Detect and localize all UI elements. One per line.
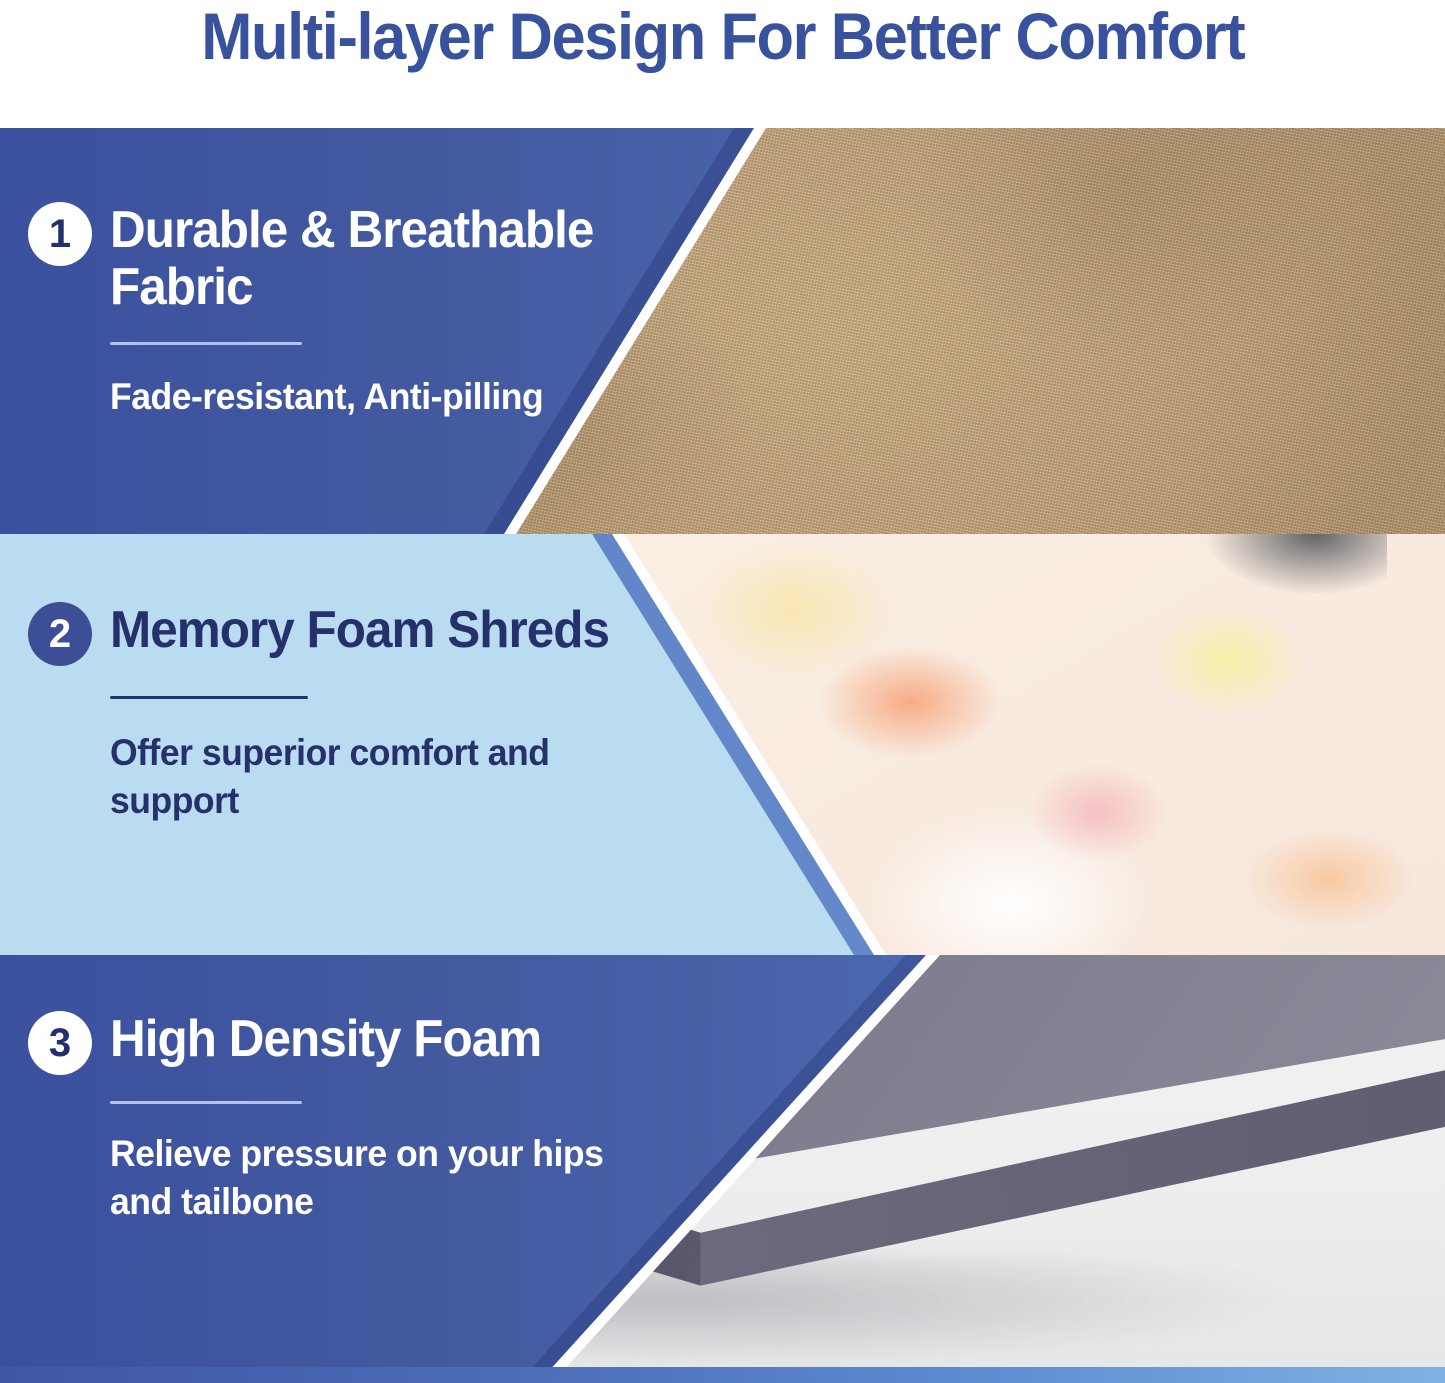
feature-panel-1: 1 Durable & Breathable Fabric Fade-resis… bbox=[0, 128, 1445, 534]
panel-2-divider bbox=[110, 696, 308, 699]
panel-3-heading-row: 3 High Density Foam bbox=[28, 1011, 640, 1075]
bottom-accent-strip bbox=[0, 1367, 1445, 1383]
panel-2-heading: Memory Foam Shreds bbox=[110, 602, 609, 659]
step-number-badge-1: 1 bbox=[28, 202, 92, 266]
panel-1-subtitle: Fade-resistant, Anti-pilling bbox=[110, 373, 619, 421]
step-number-badge-2: 2 bbox=[28, 602, 92, 666]
panel-2-content: 2 Memory Foam Shreds Offer superior comf… bbox=[0, 534, 640, 955]
panel-1-heading-row: 1 Durable & Breathable Fabric bbox=[28, 202, 640, 316]
panel-3-heading: High Density Foam bbox=[110, 1011, 541, 1068]
panel-1-heading: Durable & Breathable Fabric bbox=[110, 202, 614, 316]
feature-panel-3: 3 High Density Foam Relieve pressure on … bbox=[0, 955, 1445, 1383]
panel-2-heading-row: 2 Memory Foam Shreds bbox=[28, 602, 640, 666]
step-number-badge-3: 3 bbox=[28, 1011, 92, 1075]
panel-1-divider bbox=[110, 342, 302, 345]
panel-3-content: 3 High Density Foam Relieve pressure on … bbox=[0, 955, 640, 1383]
title-bar: Multi-layer Design For Better Comfort bbox=[0, 0, 1445, 128]
panel-3-subtitle: Relieve pressure on your hips and tailbo… bbox=[110, 1130, 619, 1226]
feature-panel-2: 2 Memory Foam Shreds Offer superior comf… bbox=[0, 534, 1445, 955]
panel-1-content: 1 Durable & Breathable Fabric Fade-resis… bbox=[0, 128, 640, 534]
panel-2-subtitle: Offer superior comfort and support bbox=[110, 729, 619, 825]
page-title: Multi-layer Design For Better Comfort bbox=[201, 0, 1244, 71]
panel-3-divider bbox=[110, 1101, 302, 1104]
